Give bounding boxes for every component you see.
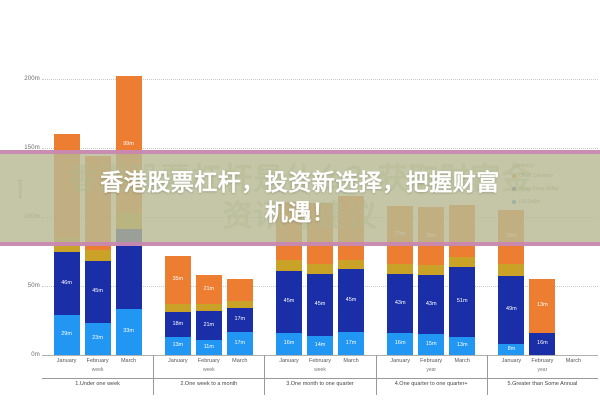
bar-value-label: 8m — [508, 347, 516, 353]
bar-segment: 17m — [227, 332, 253, 355]
bar-value-label: 18m — [172, 322, 183, 328]
bar-value-label: 16m — [395, 341, 406, 347]
bar-value-label: 17m — [234, 341, 245, 347]
bar-segment: 16m — [276, 333, 302, 355]
x-axis-tick-label: February — [414, 358, 448, 364]
y-axis-tick-label: 0m — [6, 352, 40, 358]
x-axis-group-line — [42, 378, 598, 379]
bar-segment — [307, 264, 333, 274]
bar-segment — [165, 304, 191, 312]
bar-column: 13m18m35m — [165, 256, 191, 355]
bar-segment — [338, 260, 364, 270]
group-separator — [376, 355, 377, 395]
x-axis-tick-label: January — [272, 358, 306, 364]
bar-value-label: 33m — [123, 329, 134, 335]
bar-segment: 14m — [307, 336, 333, 355]
bar-segment — [449, 257, 475, 267]
bar-value-label: 23m — [92, 336, 103, 342]
bar-value-label: 17m — [346, 341, 357, 347]
overlay-headline: 香港股票杠杆，投资新选择，把握财富 机遇！ — [0, 150, 600, 246]
bar-segment: 46m — [54, 252, 80, 315]
bar-segment: 51m — [449, 267, 475, 337]
x-axis-line — [42, 355, 598, 356]
bar-value-label: 17m — [234, 317, 245, 323]
x-axis-tick-label: March — [445, 358, 479, 364]
x-axis-sub-label: year — [411, 367, 451, 373]
bar-value-label: 99m — [123, 142, 134, 148]
bar-segment — [85, 250, 111, 261]
bar-value-label: 16m — [284, 341, 295, 347]
bar-segment: 8m — [498, 344, 524, 355]
x-axis-tick-label: February — [192, 358, 226, 364]
bar-segment: 17m — [338, 332, 364, 355]
x-axis-group-label: 2.One week to a month — [153, 381, 264, 387]
bar-value-label: 14m — [315, 343, 326, 349]
headline-line-1: 香港股票杠杆，投资新选择，把握财富 — [100, 168, 500, 198]
x-axis-tick-label: March — [556, 358, 590, 364]
bar-column: 17m17m — [227, 279, 253, 355]
x-axis-tick-label: March — [334, 358, 368, 364]
group-separator — [487, 355, 488, 395]
bar-value-label: 45m — [92, 289, 103, 295]
bar-segment: 18m — [165, 312, 191, 337]
bar-segment: 13m — [449, 337, 475, 355]
bar-segment: 45m — [338, 269, 364, 331]
bar-value-label: 21m — [203, 323, 214, 329]
x-axis-sub-label: year — [522, 367, 562, 373]
bar-segment — [227, 279, 253, 301]
bar-segment: 33m — [116, 309, 142, 355]
x-axis-sub-label: week — [300, 367, 340, 373]
bar-column: 16m13m — [529, 279, 555, 355]
bar-segment: 17m — [227, 308, 253, 331]
bar-value-label: 13m — [457, 343, 468, 349]
bar-segment: 45m — [307, 274, 333, 336]
bar-segment: 15m — [418, 334, 444, 355]
bar-segment: 13m — [165, 337, 191, 355]
x-axis-tick-label: February — [81, 358, 115, 364]
bar-segment: 16m — [529, 333, 555, 355]
bar-segment: 23m — [85, 323, 111, 355]
bar-segment — [196, 304, 222, 311]
bar-segment: 35m — [165, 256, 191, 304]
bar-value-label: 29m — [61, 332, 72, 338]
x-axis-tick-label: January — [161, 358, 195, 364]
bar-segment: 45m — [85, 261, 111, 323]
bar-segment: 21m — [196, 275, 222, 304]
bar-segment: 11m — [196, 340, 222, 355]
bar-value-label: 45m — [315, 302, 326, 308]
bar-column: 11m21m21m — [196, 275, 222, 355]
bar-value-label: 16m — [537, 341, 548, 347]
x-axis-tick-label: January — [50, 358, 84, 364]
x-axis-group-label: 3.One month to one quarter — [264, 381, 375, 387]
x-axis-tick-label: February — [303, 358, 337, 364]
y-axis-tick-label: 200m — [6, 76, 40, 82]
bar-value-label: 51m — [457, 299, 468, 305]
bar-value-label: 45m — [346, 298, 357, 304]
bar-segment: 13m — [529, 279, 555, 333]
group-separator — [153, 355, 154, 395]
bar-segment: 45m — [276, 271, 302, 333]
x-axis-tick-label: March — [223, 358, 257, 364]
bar-value-label: 21m — [203, 287, 214, 293]
y-axis-tick-label: 50m — [6, 283, 40, 289]
x-axis-tick-label: January — [494, 358, 528, 364]
x-axis-group-label: 4.One quarter to one quarter+ — [376, 381, 487, 387]
bar-value-label: 49m — [506, 307, 517, 313]
bar-value-label: 15m — [426, 342, 437, 348]
bar-segment — [227, 301, 253, 308]
x-axis-group-label: 1.Under one week — [42, 381, 153, 387]
bar-segment: 49m — [498, 276, 524, 344]
x-axis-tick-label: January — [383, 358, 417, 364]
bar-value-label: 45m — [284, 299, 295, 305]
bar-segment: 16m — [387, 333, 413, 355]
bar-segment: 21m — [196, 311, 222, 340]
bar-value-label: 13m — [172, 343, 183, 349]
bar-value-label: 11m — [204, 345, 214, 351]
bar-segment — [498, 264, 524, 276]
bar-value-label: 13m — [537, 303, 548, 309]
bar-segment: 29m — [54, 315, 80, 355]
bar-segment — [276, 260, 302, 271]
bar-value-label: 43m — [426, 302, 437, 308]
group-separator — [264, 355, 265, 395]
bar-value-label: 46m — [61, 281, 72, 287]
x-axis-sub-label: week — [78, 367, 118, 373]
headline-line-2: 机遇！ — [265, 198, 336, 228]
x-axis-tick-label: February — [525, 358, 559, 364]
x-axis-tick-label: March — [112, 358, 146, 364]
bar-segment — [387, 264, 413, 274]
bar-segment: 43m — [387, 274, 413, 333]
bar-value-label: 35m — [172, 277, 183, 283]
bar-segment — [418, 265, 444, 275]
x-axis-group-label: 5.Greater than Some Annual — [487, 381, 598, 387]
screenshot-root: Amount 0m50m100m150m200m 29m46m23m45m33m… — [0, 0, 600, 400]
x-axis-sub-label: week — [189, 367, 229, 373]
bar-segment: 43m — [418, 275, 444, 334]
bar-value-label: 43m — [395, 301, 406, 307]
